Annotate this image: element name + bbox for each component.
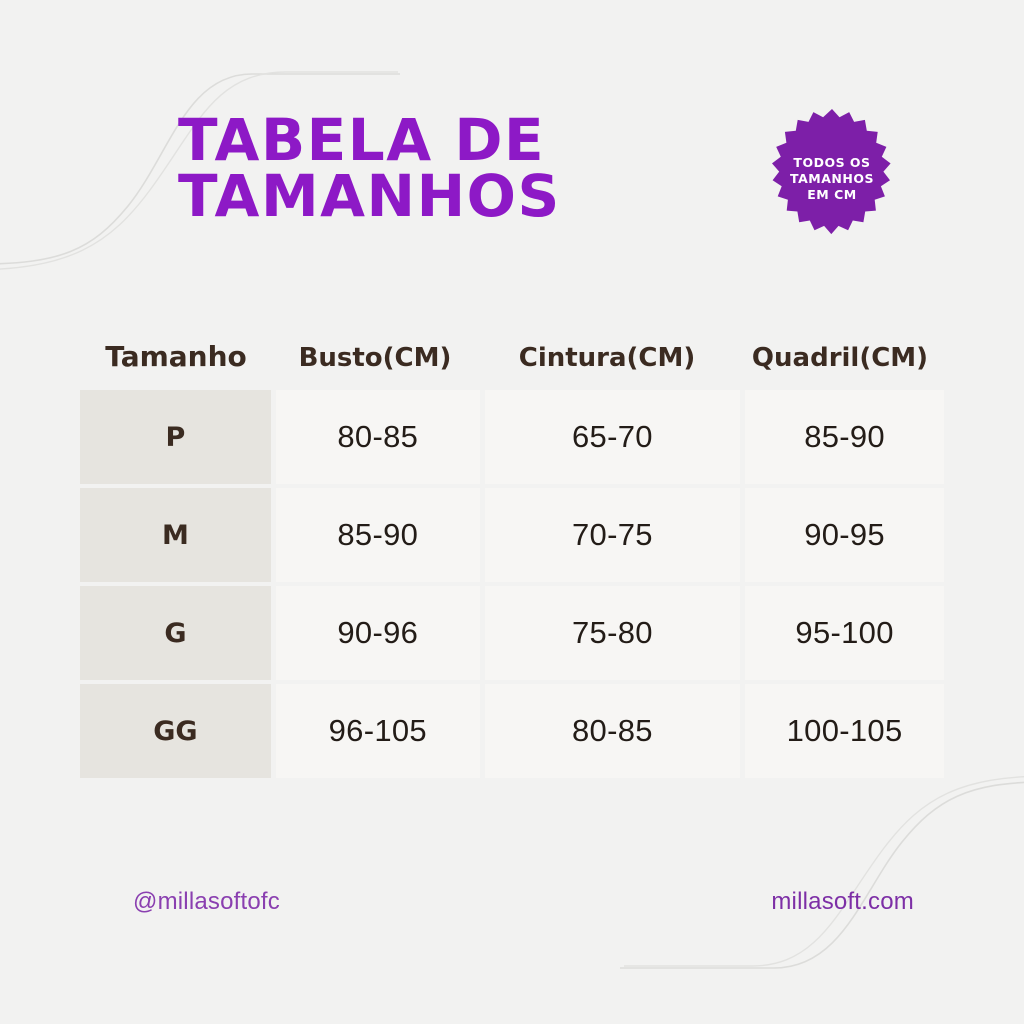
cell-quadril: 100-105 [745,684,944,778]
cell-cintura: 75-80 [485,586,741,680]
cell-cintura: 70-75 [485,488,741,582]
badge-line-2: TAMANHOS [790,171,874,187]
cell-quadril: 85-90 [745,390,944,484]
cell-busto: 80-85 [276,390,480,484]
table-row: M 85-90 70-75 90-95 [80,488,944,582]
cell-quadril: 95-100 [745,586,944,680]
table-row: P 80-85 65-70 85-90 [80,390,944,484]
size-table: Tamanho Busto(CM) Cintura(CM) Quadril(CM… [80,320,944,778]
cell-size: P [80,390,271,484]
badge-line-1: TODOS OS [793,155,870,171]
cell-busto: 90-96 [276,586,480,680]
cell-size: G [80,586,271,680]
cell-quadril: 90-95 [745,488,944,582]
badge-text: TODOS OS TAMANHOS EM CM [757,104,907,254]
title-line-1: TABELA DE [178,112,738,168]
cell-busto: 85-90 [276,488,480,582]
decor-curve-bottom-right-2 [624,776,1024,966]
column-header-cintura: Cintura(CM) [478,343,736,376]
cell-size: GG [80,684,271,778]
decor-curve-bottom-right [620,782,1024,968]
badge-line-3: EM CM [807,187,856,203]
table-row: G 90-96 75-80 95-100 [80,586,944,680]
cell-size: M [80,488,271,582]
page-title: TABELA DE TAMANHOS [178,112,738,225]
footer: @millasoftofc millasoft.com [0,888,1024,928]
table-row: GG 96-105 80-85 100-105 [80,684,944,778]
starburst-badge: TODOS OS TAMANHOS EM CM [757,104,907,254]
table-header-row: Tamanho Busto(CM) Cintura(CM) Quadril(CM… [80,320,944,376]
cell-cintura: 65-70 [485,390,741,484]
column-header-quadril: Quadril(CM) [736,343,944,376]
cell-busto: 96-105 [276,684,480,778]
social-handle[interactable]: @millasoftofc [133,888,280,916]
column-header-busto: Busto(CM) [272,343,478,376]
cell-cintura: 80-85 [485,684,741,778]
title-line-2: TAMANHOS [178,168,738,224]
column-header-tamanho: Tamanho [80,340,272,376]
table-body: P 80-85 65-70 85-90 M 85-90 70-75 90-95 … [80,390,944,778]
website-link[interactable]: millasoft.com [771,888,914,916]
